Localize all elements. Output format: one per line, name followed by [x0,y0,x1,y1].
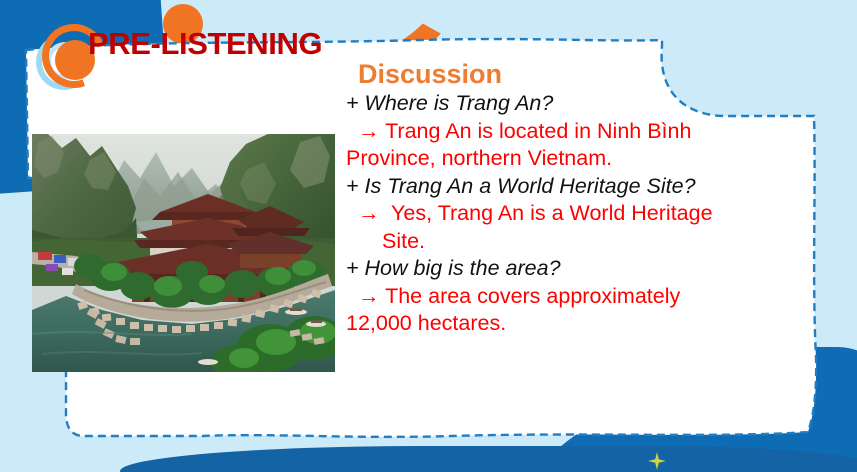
discussion-question: + Where is Trang An? [346,90,846,118]
discussion-lines: + Where is Trang An?→ Trang An is locate… [346,90,846,338]
discussion-question: + How big is the area? [346,255,846,283]
discussion-block: Discussion + Where is Trang An?→ Trang A… [346,60,846,338]
discussion-answer: → Trang An is located in Ninh Bình [358,118,846,146]
sparkle-icon [648,452,666,470]
discussion-answer: Province, northern Vietnam. [346,145,846,173]
discussion-answer: 12,000 hectares. [346,310,846,338]
discussion-answer: → Yes, Trang An is a World Heritage [358,200,846,228]
bottom-blue-strip [120,446,857,472]
trang-an-photo [32,134,335,372]
discussion-heading: Discussion [358,60,846,88]
discussion-question: + Is Trang An a World Heritage Site? [346,173,846,201]
discussion-answer: → The area covers approximately [358,283,846,311]
page-title: PRE-LISTENING [88,26,322,62]
discussion-answer: Site. [382,228,846,256]
slide-canvas: PRE-LISTENING [0,0,857,472]
